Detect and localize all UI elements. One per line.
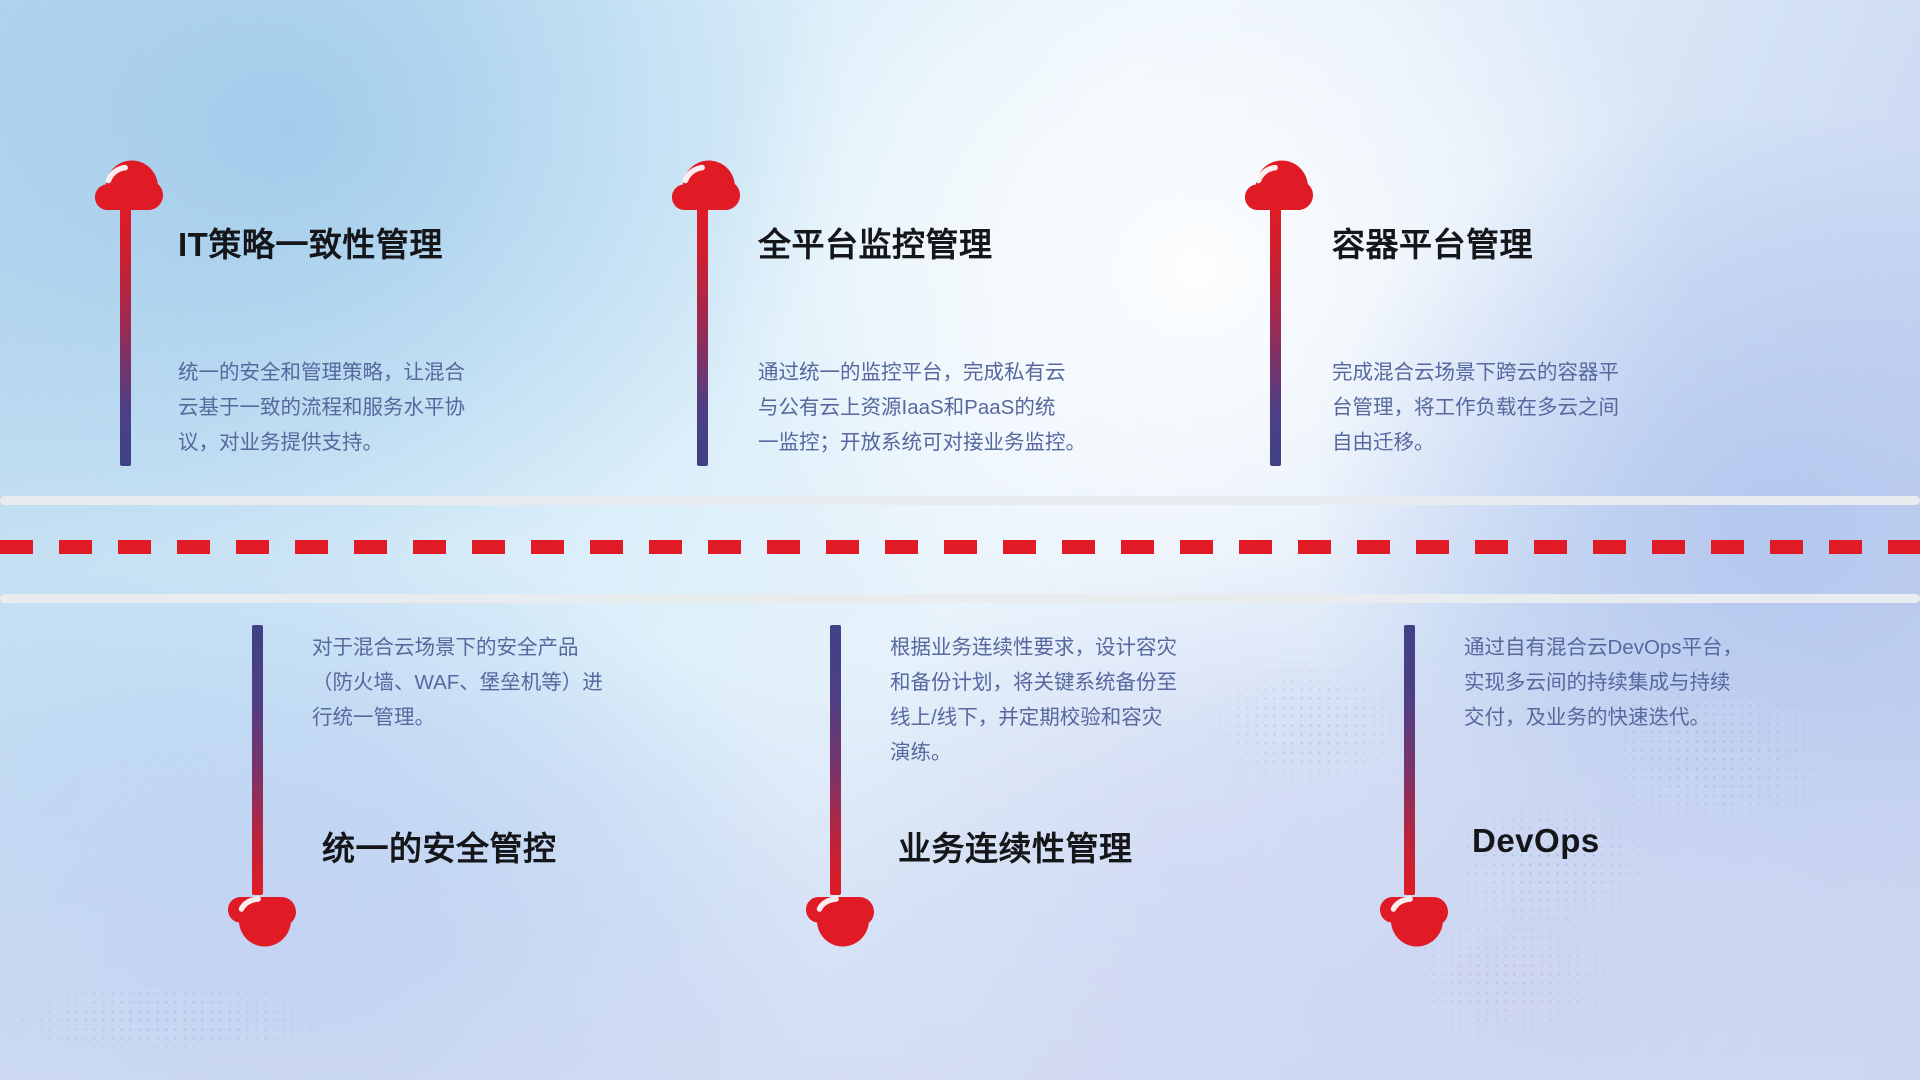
dot-texture-e [0, 980, 420, 1080]
cloud-icon [1380, 895, 1448, 947]
cloud-icon [672, 160, 740, 212]
cloud-icon [1245, 160, 1313, 212]
top-card-2-title: 全平台监控管理 [758, 218, 993, 266]
infographic-canvas: IT策略一致性管理 统一的安全和管理策略，让混合 云基于一致的流程和服务水平协 … [0, 0, 1920, 1080]
bottom-card-2-title: 业务连续性管理 [898, 822, 1133, 870]
cloud-icon [95, 160, 163, 212]
cloud-icon [228, 895, 296, 947]
top-card-1-body: 统一的安全和管理策略，让混合 云基于一致的流程和服务水平协 议，对业务提供支持。 [178, 355, 618, 460]
lower-white-rule [0, 594, 1920, 603]
connector-stem [830, 625, 841, 895]
cloud-icon [806, 895, 874, 947]
top-card-3-body: 完成混合云场景下跨云的容器平 台管理，将工作负载在多云之间 自由迁移。 [1332, 355, 1772, 460]
red-dashed-separator [0, 540, 1920, 554]
connector-stem [252, 625, 263, 895]
top-card-3-title: 容器平台管理 [1332, 218, 1533, 266]
bottom-card-3-title: DevOps [1472, 822, 1600, 860]
bottom-card-1-title: 统一的安全管控 [322, 822, 557, 870]
connector-stem [1404, 625, 1415, 895]
bottom-card-3-body: 通过自有混合云DevOps平台， 实现多云间的持续集成与持续 交付，及业务的快速… [1464, 630, 1904, 735]
top-card-1-title: IT策略一致性管理 [178, 218, 443, 266]
top-card-2-body: 通过统一的监控平台，完成私有云 与公有云上资源IaaS和PaaS的统 一监控；开… [758, 355, 1218, 460]
connector-stem [1270, 208, 1281, 466]
connector-stem [697, 208, 708, 466]
upper-white-rule [0, 496, 1920, 505]
bottom-card-1-body: 对于混合云场景下的安全产品 （防火墙、WAF、堡垒机等）进 行统一管理。 [312, 630, 752, 735]
bottom-card-2-body: 根据业务连续性要求，设计容灾 和备份计划，将关键系统备份至 线上/线下，并定期校… [890, 630, 1330, 770]
connector-stem [120, 208, 131, 466]
